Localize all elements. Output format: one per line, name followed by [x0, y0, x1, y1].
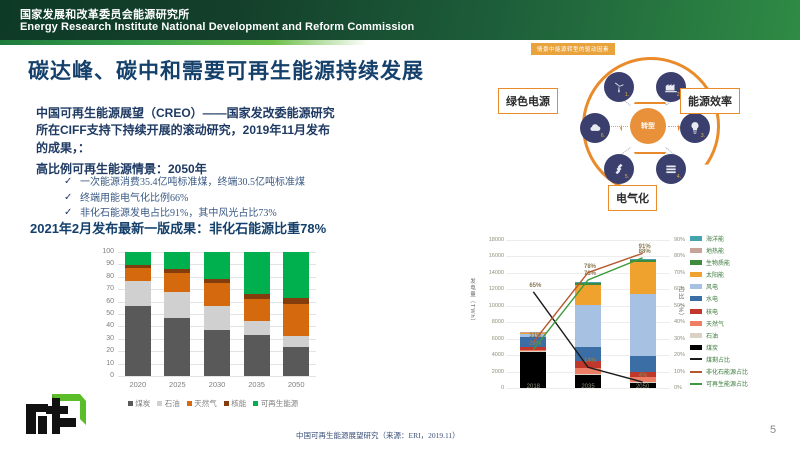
- latest-result-text: 2021年2月发布最新一版成果：非化石能源比重78%: [30, 218, 326, 237]
- bar-segment: [125, 252, 151, 265]
- x-axis-tick: 2035: [237, 380, 277, 389]
- transition-drivers-diagram: 情景中能源转型的驱动因素 转型 1. 2. 3. 4. 5.: [498, 40, 800, 232]
- legend-item: 太阳能: [690, 270, 798, 279]
- bar-segment: [164, 318, 190, 376]
- bar-segment: [125, 268, 151, 281]
- trend-line: [533, 292, 642, 382]
- bar-segment: [244, 335, 270, 376]
- legend-label: 天然气: [194, 398, 217, 409]
- legend-item: 海洋能: [690, 234, 798, 243]
- legend-item: 煤炭: [128, 398, 151, 409]
- legend-item: 可再生能源占比: [690, 379, 798, 388]
- bar-segment: [204, 252, 230, 279]
- bar-segment: [244, 299, 270, 321]
- chart-plot-area: 00%200010%400020%600030%800040%1000050%1…: [506, 240, 670, 388]
- bullet-text: 终端用能电气化比例66%: [80, 192, 188, 206]
- legend-item: 地热能: [690, 246, 798, 255]
- bar-segment: [164, 269, 190, 273]
- bar-segment: [204, 306, 230, 330]
- legend-label: 风电: [706, 282, 718, 291]
- y-axis-tick: 4000: [480, 352, 504, 358]
- bar-segment: [204, 279, 230, 283]
- source-caption: 中国可再生能源展望研究（来源：ERI，2019.11）: [296, 430, 460, 441]
- y-axis-tick: 14000: [480, 270, 504, 276]
- node-number: 6.: [601, 133, 605, 139]
- intro-paragraph: 中国可再生能源展望（CREO）——国家发改委能源研究所在CIFF支持下持续开展的…: [36, 105, 336, 157]
- bar-segment: [244, 252, 270, 294]
- legend-label: 天然气: [706, 319, 724, 328]
- legend-label: 煤剩占比: [706, 355, 730, 364]
- legend-item: 石油: [690, 331, 798, 340]
- legend-swatch: [690, 345, 702, 350]
- bullet-text: 一次能源消费35.4亿吨标准煤，终端30.5亿吨标准煤: [80, 176, 305, 190]
- node-number: 5.: [625, 174, 629, 180]
- list-item: ✓ 终端用能电气化比例66%: [64, 192, 364, 206]
- y-axis-tick: 100: [92, 248, 114, 255]
- gridline: [118, 376, 316, 377]
- diagram-banner: 情景中能源转型的驱动因素: [531, 43, 615, 55]
- legend-swatch: [690, 309, 702, 314]
- legend-swatch: [187, 401, 192, 406]
- y-axis-tick: 50: [92, 310, 114, 317]
- legend-item: 煤炭: [690, 343, 798, 352]
- bar-stack: [164, 252, 190, 376]
- legend-swatch: [224, 401, 229, 406]
- org-name-en: Energy Research Institute National Devel…: [20, 21, 414, 33]
- line-overlay: [506, 240, 670, 388]
- legend-label: 核能: [231, 398, 246, 409]
- x-axis-tick: 2050: [623, 384, 663, 390]
- legend-label: 煤炭: [706, 343, 718, 352]
- connector-dots: [608, 126, 628, 127]
- y-axis-tick: 12000: [480, 286, 504, 292]
- legend-item: 天然气: [690, 319, 798, 328]
- legend-item: 核能: [224, 398, 247, 409]
- legend-label: 太阳能: [706, 270, 724, 279]
- legend-swatch: [128, 401, 133, 406]
- check-icon: ✓: [64, 207, 80, 218]
- bar-stack: [204, 252, 230, 376]
- y-axis-tick: 90: [92, 260, 114, 267]
- legend-swatch: [690, 284, 702, 289]
- legend-swatch: [253, 401, 258, 406]
- y-axis-tick: 0: [480, 385, 504, 391]
- legend-label: 非化石能源占比: [706, 367, 748, 376]
- legend-swatch: [690, 296, 702, 301]
- y-axis-tick: 8000: [480, 319, 504, 325]
- x-axis-tick: 2025: [157, 380, 197, 389]
- legend-label: 核电: [706, 307, 718, 316]
- chart-legend: 煤炭石油天然气核能可再生能源: [98, 398, 328, 409]
- x-axis-tick: 2020: [118, 380, 158, 389]
- legend-item: 可再生能源: [253, 398, 298, 409]
- bar-segment: [164, 273, 190, 292]
- legend-label: 石油: [706, 331, 718, 340]
- bar-segment: [283, 347, 309, 376]
- bar-segment: [125, 265, 151, 268]
- bar-stack: [283, 252, 309, 376]
- legend-label: 煤炭: [135, 398, 150, 409]
- y-axis-tick: 60: [92, 298, 114, 305]
- legend-item: 生物质能: [690, 258, 798, 267]
- x-axis-tick: 2035: [568, 384, 608, 390]
- chart-legend: 海洋能地热能生物质能太阳能风电水电核电天然气石油煤炭煤剩占比非化石能源占比可再生…: [690, 234, 798, 391]
- legend-label: 可再生能源: [261, 398, 299, 409]
- node-number: 3.: [701, 133, 705, 139]
- legend-item: 天然气: [187, 398, 217, 409]
- bar-segment: [204, 330, 230, 376]
- legend-swatch: [690, 272, 702, 277]
- label-energy-efficiency: 能源效率: [680, 88, 740, 114]
- org-name-cn: 国家发展和改革委员会能源研究所: [20, 6, 190, 22]
- page-title: 碳达峰、碳中和需要可再生能源持续发展: [28, 55, 424, 85]
- y-axis-tick: 0: [92, 372, 114, 379]
- bullet-list: ✓ 一次能源消费35.4亿吨标准煤，终端30.5亿吨标准煤 ✓ 终端用能电气化比…: [64, 176, 364, 223]
- check-icon: ✓: [64, 192, 80, 203]
- trend-line: [533, 258, 642, 350]
- x-axis-tick: 2030: [197, 380, 237, 389]
- bar-segment: [125, 306, 151, 376]
- y-axis-tick: 2000: [480, 369, 504, 375]
- x-axis-tick: 2018: [513, 384, 553, 390]
- battery-stack-icon[interactable]: 4.: [656, 154, 686, 184]
- wind-turbine-icon[interactable]: 1.: [604, 72, 634, 102]
- legend-label: 可再生能源占比: [706, 379, 748, 388]
- chart-plot-area: 0102030405060708090100: [118, 252, 316, 376]
- legend-swatch: [690, 383, 702, 385]
- bar-segment: [204, 283, 230, 306]
- legend-item: 煤剩占比: [690, 355, 798, 364]
- legend-swatch: [690, 358, 702, 360]
- primary-energy-mix-chart: 0102030405060708090100 20202025203020352…: [88, 248, 328, 420]
- bar-segment: [125, 281, 151, 306]
- label-green-power: 绿色电源: [498, 88, 558, 114]
- y-axis-tick: 18000: [480, 237, 504, 243]
- legend-swatch: [690, 333, 702, 338]
- legend-swatch: [690, 321, 702, 326]
- y-axis-tick: 16000: [480, 253, 504, 259]
- y-axis-tick: 6000: [480, 336, 504, 342]
- legend-label: 水电: [706, 294, 718, 303]
- page-number: 5: [770, 424, 776, 436]
- legend-swatch: [690, 248, 702, 253]
- label-electrification: 电气化: [608, 185, 657, 211]
- bar-segment: [164, 292, 190, 318]
- x-axis-tick: 2050: [276, 380, 316, 389]
- node-number: 4.: [677, 174, 681, 180]
- legend-item: 水电: [690, 294, 798, 303]
- bar-segment: [244, 321, 270, 335]
- legend-swatch: [690, 236, 702, 241]
- scenario-heading: 高比例可再生能源情景：2050年: [36, 160, 207, 177]
- bar-segment: [283, 304, 309, 336]
- y-axis-tick: 10: [92, 360, 114, 367]
- legend-item: 非化石能源占比: [690, 367, 798, 376]
- list-item: ✓ 一次能源消费35.4亿吨标准煤，终端30.5亿吨标准煤: [64, 176, 364, 190]
- legend-label: 生物质能: [706, 258, 730, 267]
- power-generation-outlook-chart: 发电量（TWh） 占比（%） 00%200010%400020%600030%8…: [462, 232, 800, 422]
- bar-stack: [244, 252, 270, 376]
- y-axis-tick: 10000: [480, 303, 504, 309]
- legend-item: 核电: [690, 307, 798, 316]
- plug-icon[interactable]: 5.: [604, 154, 634, 184]
- legend-label: 石油: [165, 398, 180, 409]
- y-axis-title-left: 发电量（TWh）: [468, 278, 476, 325]
- bar-stack: [125, 252, 151, 376]
- legend-label: 地热能: [706, 246, 724, 255]
- slide: 国家发展和改革委员会能源研究所 Energy Research Institut…: [0, 0, 800, 450]
- legend-swatch: [690, 260, 702, 265]
- legend-item: 石油: [157, 398, 180, 409]
- eri-logo: [18, 392, 90, 440]
- check-icon: ✓: [64, 176, 80, 187]
- legend-swatch: [157, 401, 162, 406]
- legend-item: 风电: [690, 282, 798, 291]
- node-number: 1.: [625, 92, 629, 98]
- bar-segment: [283, 298, 309, 304]
- bar-segment: [283, 252, 309, 298]
- center-label: 转型: [630, 108, 666, 144]
- y-axis-tick: 70: [92, 285, 114, 292]
- bar-segment: [244, 294, 270, 299]
- y-axis-tick: 40: [92, 322, 114, 329]
- legend-swatch: [690, 371, 702, 373]
- lightbulb-icon[interactable]: 3.: [680, 113, 710, 143]
- y-axis-tick: 80: [92, 273, 114, 280]
- bar-segment: [283, 336, 309, 347]
- y-axis-tick: 30: [92, 335, 114, 342]
- legend-label: 海洋能: [706, 234, 724, 243]
- y-axis-tick: 20: [92, 347, 114, 354]
- header-banner: 国家发展和改革委员会能源研究所 Energy Research Institut…: [0, 0, 800, 40]
- cloud-icon[interactable]: 6.: [580, 113, 610, 143]
- bar-segment: [164, 252, 190, 269]
